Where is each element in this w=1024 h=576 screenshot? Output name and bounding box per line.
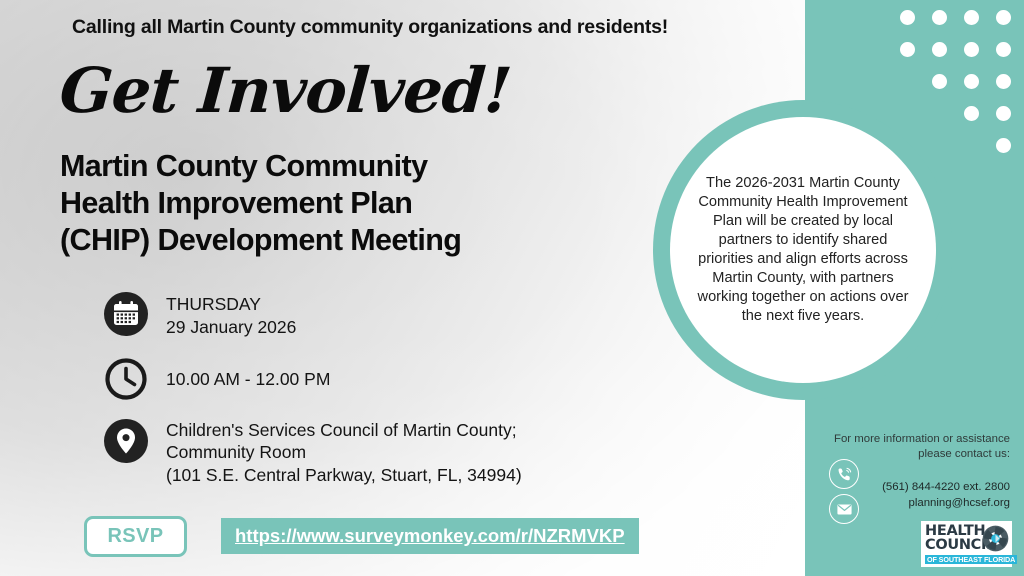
calendar-icon [104, 292, 148, 336]
poster-canvas: The 2026-2031 Martin County Community He… [0, 0, 1024, 576]
decorative-dot [996, 10, 1011, 25]
rsvp-badge: RSVP [84, 516, 187, 557]
event-heading-line-2: Health Improvement Plan [60, 185, 620, 222]
decorative-dot [932, 42, 947, 57]
detail-text-time: 10.00 AM - 12.00 PM [166, 357, 330, 391]
decorative-dot [964, 106, 979, 121]
decorative-dot [964, 74, 979, 89]
location-pin-icon [104, 419, 148, 463]
event-details: THURSDAY 29 January 2026 10.00 AM - 12.0… [104, 292, 664, 505]
decorative-dot [964, 42, 979, 57]
date-day: THURSDAY [166, 293, 296, 316]
clock-icon [104, 357, 148, 401]
kicker-text: Calling all Martin County community orga… [72, 16, 668, 39]
callout-circle: The 2026-2031 Martin County Community He… [670, 117, 936, 383]
contact-intro-line-1: For more information or assistance [810, 432, 1010, 447]
decorative-dot [932, 74, 947, 89]
decorative-dot [996, 106, 1011, 121]
event-heading: Martin County Community Health Improveme… [60, 148, 620, 260]
rsvp-link-container[interactable]: https://www.surveymonkey.com/r/NZRMVKP [221, 518, 639, 554]
detail-row-date: THURSDAY 29 January 2026 [104, 292, 664, 339]
detail-text-date: THURSDAY 29 January 2026 [166, 292, 296, 339]
dot-grid-decoration [890, 0, 1024, 160]
decorative-dot [900, 10, 915, 25]
detail-row-time: 10.00 AM - 12.00 PM [104, 357, 664, 401]
location-line-3: (101 S.E. Central Parkway, Stuart, FL, 3… [166, 464, 522, 487]
contact-email: planning@hcsef.org [820, 495, 1010, 511]
logo-subtitle: OF SOUTHEAST FLORIDA [925, 555, 1017, 564]
decorative-dot [932, 10, 947, 25]
health-council-logo: HEALTH COUNCIL OF SOUTHEAST FLORIDA [921, 521, 1012, 567]
rsvp-survey-link[interactable]: https://www.surveymonkey.com/r/NZRMVKP [235, 525, 625, 547]
event-heading-line-3: (CHIP) Development Meeting [60, 222, 620, 259]
decorative-dot [996, 138, 1011, 153]
contact-details: (561) 844-4220 ext. 2800 planning@hcsef.… [820, 479, 1010, 511]
location-line-1: Children's Services Council of Martin Co… [166, 419, 522, 442]
detail-row-location: Children's Services Council of Martin Co… [104, 419, 664, 487]
decorative-dot [996, 74, 1011, 89]
event-heading-line-1: Martin County Community [60, 148, 620, 185]
callout-text: The 2026-2031 Martin County Community He… [692, 174, 914, 326]
contact-intro: For more information or assistance pleas… [810, 432, 1010, 463]
page-title: Get Involved! [57, 54, 513, 127]
location-line-2: Community Room [166, 441, 522, 464]
logo-pinwheel-icon [982, 525, 1009, 552]
date-value: 29 January 2026 [166, 316, 296, 339]
decorative-dot [964, 10, 979, 25]
time-value: 10.00 AM - 12.00 PM [166, 368, 330, 391]
decorative-dot [900, 42, 915, 57]
decorative-dot [996, 42, 1011, 57]
contact-phone: (561) 844-4220 ext. 2800 [820, 479, 1010, 495]
rsvp-label: RSVP [107, 525, 163, 548]
detail-text-location: Children's Services Council of Martin Co… [166, 419, 522, 487]
